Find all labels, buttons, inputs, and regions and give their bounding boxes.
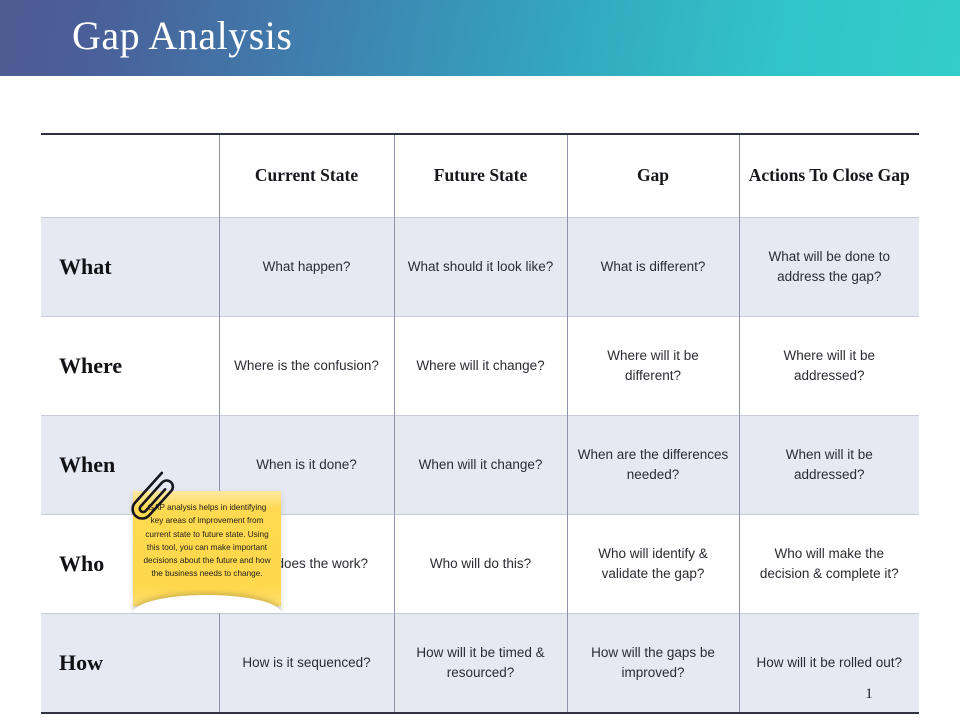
sticky-note-group: GAP analysis helps in identifying key ar… [113, 462, 288, 612]
row-label-how: How [41, 614, 219, 714]
header-banner: Gap Analysis [0, 0, 960, 76]
gap-analysis-table: Current State Future State Gap Actions T… [41, 133, 919, 714]
cell-what-future-state: What should it look like? [394, 218, 567, 317]
row-label-where: Where [41, 317, 219, 416]
cell-when-actions: When will it be addressed? [739, 416, 919, 515]
gap-analysis-table-container: Current State Future State Gap Actions T… [41, 133, 919, 714]
column-header-future-state: Future State [394, 134, 567, 218]
column-header-gap: Gap [567, 134, 739, 218]
cell-where-actions: Where will it be addressed? [739, 317, 919, 416]
cell-who-actions: Who will make the decision & complete it… [739, 515, 919, 614]
column-header-current-state: Current State [219, 134, 394, 218]
cell-where-current-state: Where is the confusion? [219, 317, 394, 416]
cell-what-gap: What is different? [567, 218, 739, 317]
cell-when-gap: When are the differences needed? [567, 416, 739, 515]
sticky-note-text: GAP analysis helps in identifying key ar… [141, 501, 273, 581]
cell-who-gap: Who will identify & validate the gap? [567, 515, 739, 614]
cell-what-actions: What will be done to address the gap? [739, 218, 919, 317]
table-row: How How is it sequenced? How will it be … [41, 614, 919, 714]
table-row: Where Where is the confusion? Where will… [41, 317, 919, 416]
row-label-what: What [41, 218, 219, 317]
cell-who-future-state: Who will do this? [394, 515, 567, 614]
cell-how-gap: How will the gaps be improved? [567, 614, 739, 714]
cell-what-current-state: What happen? [219, 218, 394, 317]
table-header: Current State Future State Gap Actions T… [41, 134, 919, 218]
table-corner-cell [41, 134, 219, 218]
cell-when-future-state: When will it change? [394, 416, 567, 515]
table-row: What What happen? What should it look li… [41, 218, 919, 317]
cell-where-gap: Where will it be different? [567, 317, 739, 416]
cell-how-actions: How will it be rolled out? [739, 614, 919, 714]
sticky-note: GAP analysis helps in identifying key ar… [133, 491, 281, 606]
table-header-row: Current State Future State Gap Actions T… [41, 134, 919, 218]
cell-how-current-state: How is it sequenced? [219, 614, 394, 714]
cell-how-future-state: How will it be timed & resourced? [394, 614, 567, 714]
page-number: 1 [856, 686, 882, 703]
page-title: Gap Analysis [72, 12, 292, 59]
column-header-actions-to-close-gap: Actions To Close Gap [739, 134, 919, 218]
cell-where-future-state: Where will it change? [394, 317, 567, 416]
